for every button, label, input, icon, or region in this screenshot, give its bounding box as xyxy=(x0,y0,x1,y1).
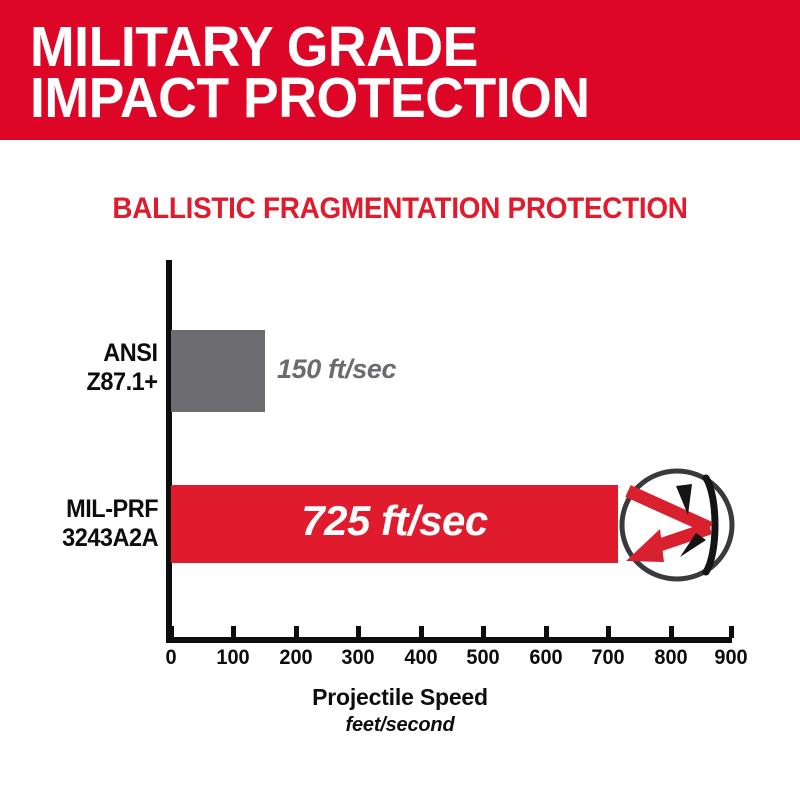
category-label-mil-prf-line-2: 3243A2A xyxy=(62,524,158,553)
x-axis-tick-label: 800 xyxy=(643,646,700,670)
x-axis-tick-mark xyxy=(294,626,299,638)
x-axis-tick-label: 0 xyxy=(143,646,200,670)
x-axis-tick-label: 700 xyxy=(580,646,637,670)
y-axis-line xyxy=(166,260,172,643)
x-axis-tick-label: 300 xyxy=(330,646,387,670)
x-axis-tick-mark xyxy=(356,626,361,638)
x-axis-tick-mark xyxy=(669,626,674,638)
category-label-ansi-line-1: ANSI xyxy=(87,339,158,368)
chart-plot-area: 0 100 200 300 400 500 600 700 800 900 15… xyxy=(0,0,800,800)
x-axis-tick-label: 900 xyxy=(703,646,760,670)
category-label-mil-prf: MIL-PRF 3243A2A xyxy=(62,495,158,553)
x-axis-title: Projectile Speed xyxy=(0,684,800,711)
x-axis-tick-mark xyxy=(729,626,734,638)
x-axis-tick-mark xyxy=(481,626,486,638)
x-axis-tick-label: 100 xyxy=(205,646,262,670)
x-axis-tick-label: 500 xyxy=(455,646,512,670)
category-label-ansi: ANSI Z87.1+ xyxy=(87,339,158,397)
x-axis-tick-label: 400 xyxy=(393,646,450,670)
bar-ansi-z871 xyxy=(171,330,265,412)
x-axis-tick-mark xyxy=(231,626,236,638)
x-axis-tick-mark xyxy=(606,626,611,638)
x-axis-tick-mark xyxy=(419,626,424,638)
x-axis-tick-mark xyxy=(544,626,549,638)
x-axis-title-units: feet/second xyxy=(0,714,800,737)
bar-value-label-mil-prf: 725 ft/sec xyxy=(171,497,618,545)
x-axis-line xyxy=(166,637,732,643)
x-axis-tick-label: 200 xyxy=(268,646,325,670)
deflection-icon xyxy=(618,467,736,583)
bar-value-label-ansi: 150 ft/sec xyxy=(277,354,396,385)
category-label-mil-prf-line-1: MIL-PRF xyxy=(62,495,158,524)
category-label-ansi-line-2: Z87.1+ xyxy=(87,368,158,397)
x-axis-tick-mark xyxy=(169,626,174,638)
x-axis-tick-label: 600 xyxy=(518,646,575,670)
